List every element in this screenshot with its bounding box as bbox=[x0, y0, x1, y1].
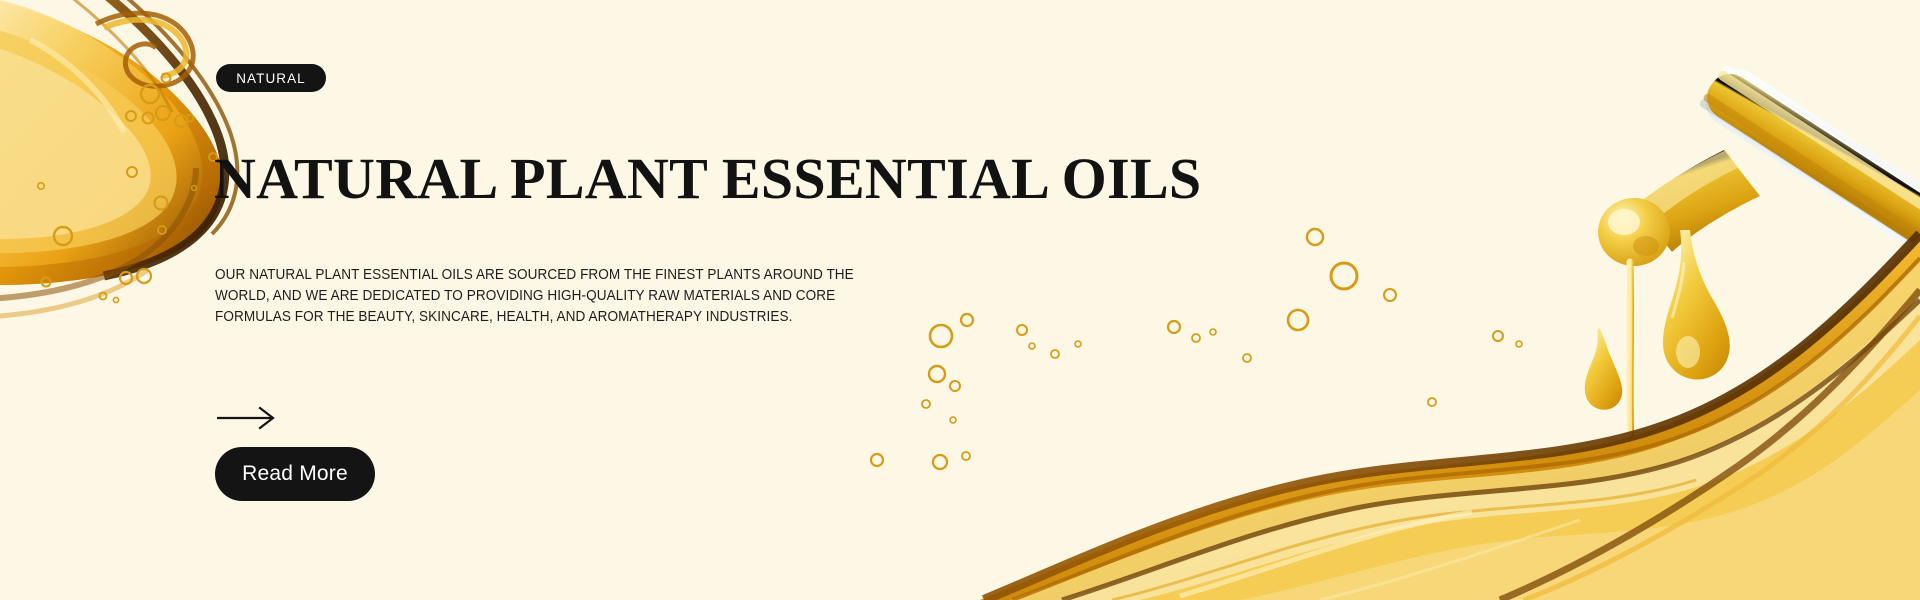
hero-banner: NATURAL NATURAL PLANT ESSENTIAL OILS OUR… bbox=[0, 0, 1920, 600]
page-title: NATURAL PLANT ESSENTIAL OILS bbox=[214, 148, 1201, 210]
arrow-right-glyph bbox=[216, 405, 280, 431]
banner-content: NATURAL NATURAL PLANT ESSENTIAL OILS OUR… bbox=[0, 0, 1920, 600]
arrow-right-icon[interactable] bbox=[216, 405, 280, 431]
category-badge: NATURAL bbox=[216, 64, 326, 92]
read-more-button[interactable]: Read More bbox=[215, 447, 375, 501]
banner-description: OUR NATURAL PLANT ESSENTIAL OILS ARE SOU… bbox=[215, 265, 894, 328]
